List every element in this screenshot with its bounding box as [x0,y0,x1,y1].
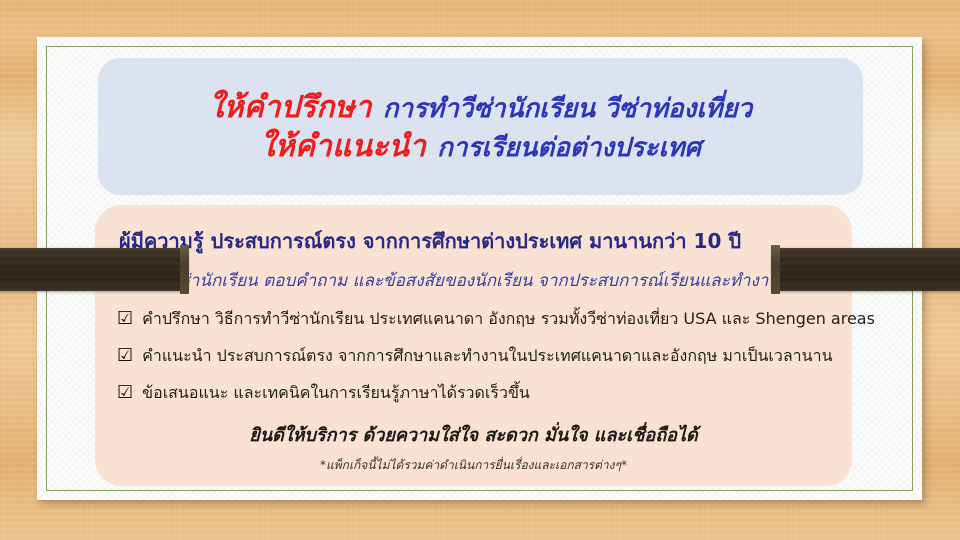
list-item: ☑ คำแนะนำ ประสบการณ์ตรง จากการศึกษาและทำ… [117,344,830,369]
footnote: *แพ็กเก็จนี้ไม่ได้รวมค่าดำเนินการยื่นเรื… [117,456,830,475]
wood-band-left-cap [180,245,189,294]
list-item: ☑ คำปรึกษา วิธีการทำวีซ่านักเรียน ประเทศ… [117,307,830,332]
content-heading: ผู้มีความรู้ ประสบการณ์ตรง จากการศึกษาต่… [119,225,830,257]
content-panel: ผู้มีความรู้ ประสบการณ์ตรง จากการศึกษาต่… [95,205,852,486]
slide-canvas: ให้คำปรึกษา การทำวีซ่านักเรียน วีซ่าท่อง… [0,0,960,540]
tagline: ยินดีให้บริการ ด้วยความใส่ใจ สะดวก มั่นใ… [117,420,830,449]
wood-band-left [0,248,188,291]
content-subheading: การทำวีซ่านักเรียน ตอบคำถาม และข้อสงสัยข… [119,267,830,294]
benefits-list: ☑ คำปรึกษา วิธีการทำวีซ่านักเรียน ประเทศ… [117,307,830,406]
title-line-2: ให้คำแนะนำ การเรียนต่อต่างประเทศ [260,130,701,163]
list-item-label: ข้อเสนอแนะ และเทคนิคในการเรียนรู้ภาษาได้… [142,381,530,406]
checkbox-checked-icon: ☑ [117,310,133,328]
title-panel: ให้คำปรึกษา การทำวีซ่านักเรียน วีซ่าท่อง… [98,58,863,195]
title-line-1-highlight: ให้คำปรึกษา [209,90,372,125]
wood-band-right [772,248,960,291]
title-line-2-highlight: ให้คำแนะนำ [260,129,426,164]
list-item: ☑ ข้อเสนอแนะ และเทคนิคในการเรียนรู้ภาษาไ… [117,381,830,406]
title-line-1-rest: การทำวีซ่านักเรียน วีซ่าท่องเที่ยว [383,94,752,124]
title-line-1: ให้คำปรึกษา การทำวีซ่านักเรียน วีซ่าท่อง… [209,91,752,124]
checkbox-checked-icon: ☑ [117,384,133,402]
list-item-label: คำแนะนำ ประสบการณ์ตรง จากการศึกษาและทำงา… [142,344,832,369]
checkbox-checked-icon: ☑ [117,347,133,365]
wood-band-right-cap [771,245,780,294]
list-item-label: คำปรึกษา วิธีการทำวีซ่านักเรียน ประเทศแค… [142,307,875,332]
title-line-2-rest: การเรียนต่อต่างประเทศ [437,133,701,163]
